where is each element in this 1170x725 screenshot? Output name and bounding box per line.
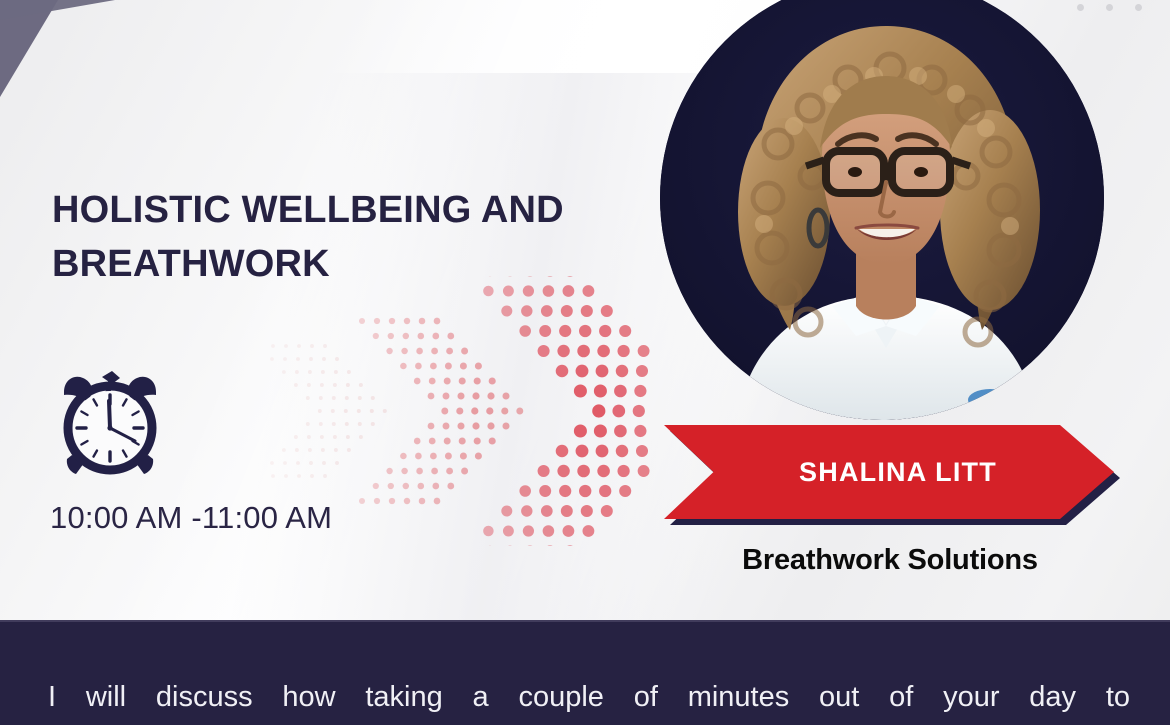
caption-word: how: [282, 678, 335, 717]
dot-icon: [1077, 4, 1084, 11]
caption-word: I: [48, 678, 56, 717]
session-time: 10:00 AM -11:00 AM: [50, 500, 332, 536]
caption-bar: I will discuss how taking a couple of mi…: [0, 620, 1170, 725]
alarm-clock-icon: [50, 362, 170, 482]
caption-word: of: [634, 678, 658, 717]
caption-word: day: [1029, 678, 1076, 717]
corner-triangle-accent-icon: [0, 0, 115, 20]
corner-dots-decoration: [1077, 4, 1142, 11]
caption-word: your: [943, 678, 999, 717]
speaker-name-ribbon: SHALINA LITT: [660, 420, 1120, 530]
caption-word: discuss: [156, 678, 253, 717]
caption-text: I will discuss how taking a couple of mi…: [48, 678, 1130, 717]
presentation-slide: HOLISTIC WELLBEING AND BREATHWORK: [0, 0, 1170, 725]
caption-word: of: [889, 678, 913, 717]
speaker-name: SHALINA LITT: [781, 457, 997, 488]
organization-name: Breathwork Solutions: [660, 544, 1120, 577]
caption-word: to: [1106, 678, 1130, 717]
ribbon-banner: SHALINA LITT: [664, 425, 1114, 519]
caption-word: a: [473, 678, 489, 717]
dot-icon: [1106, 4, 1113, 11]
caption-word: minutes: [688, 678, 790, 717]
page-title: HOLISTIC WELLBEING AND BREATHWORK: [52, 184, 632, 292]
caption-word: taking: [365, 678, 442, 717]
caption-word: will: [86, 678, 126, 717]
caption-word: out: [819, 678, 859, 717]
dot-icon: [1135, 4, 1142, 11]
caption-word: couple: [518, 678, 603, 717]
